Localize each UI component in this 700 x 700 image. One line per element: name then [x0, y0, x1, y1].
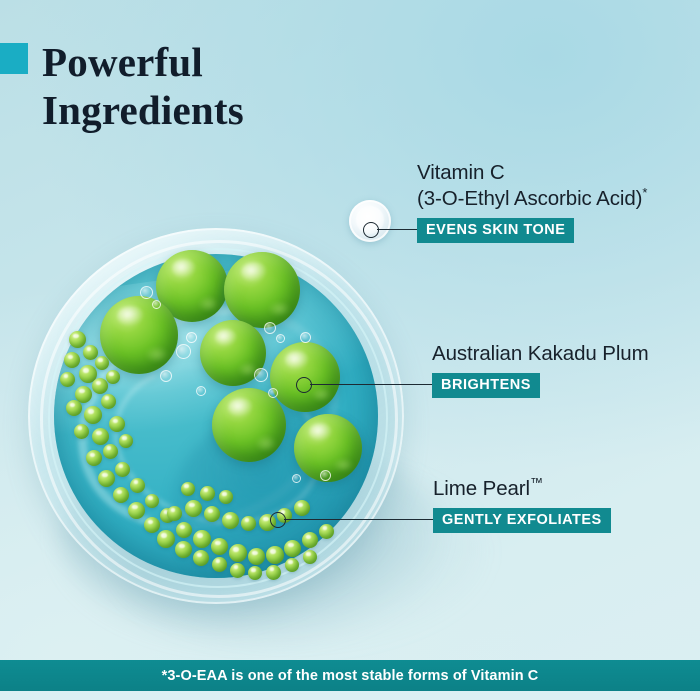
caviar-bead	[106, 370, 120, 384]
caviar-bead	[176, 522, 192, 538]
caviar-bead	[113, 487, 129, 503]
caviar-bead	[230, 563, 245, 578]
water-bubble	[292, 474, 301, 483]
caviar-bead	[319, 524, 334, 539]
caviar-bead	[84, 406, 102, 424]
caviar-bead	[130, 478, 145, 493]
water-bubble	[320, 470, 331, 481]
leader-dot-vitamin-c	[363, 222, 379, 238]
water-bubble	[268, 388, 278, 398]
caviar-bead	[101, 394, 116, 409]
badge-brightens: BRIGHTENS	[432, 373, 540, 398]
leader-line-kakadu-plum	[310, 384, 432, 385]
callout-name-line-1: Vitamin C	[417, 160, 647, 186]
callout-label-lime-pearl: Lime Pearl™	[433, 476, 543, 502]
caviar-bead	[185, 500, 202, 517]
callout-name-line-2: (3-O-Ethyl Ascorbic Acid)*	[417, 186, 647, 212]
footnote-marker: *	[642, 185, 647, 200]
petri-dish-water	[54, 254, 378, 578]
water-bubble	[254, 368, 268, 382]
caviar-bead	[211, 538, 228, 555]
caviar-bead	[92, 378, 108, 394]
caviar-bead	[98, 470, 115, 487]
caviar-bead	[92, 428, 109, 445]
leader-dot-lime-pearl	[270, 512, 286, 528]
badge-evens-skin-tone: EVENS SKIN TONE	[417, 218, 574, 243]
caviar-bead	[294, 500, 310, 516]
water-bubble	[196, 386, 206, 396]
petri-dish-rim-inner	[48, 248, 388, 588]
green-sphere	[200, 320, 266, 386]
water-bubble	[186, 332, 197, 343]
water-bubble	[160, 370, 172, 382]
caviar-bead	[128, 502, 145, 519]
caviar-bead	[219, 490, 233, 504]
caviar-bead	[204, 506, 220, 522]
callout-name-line-1: Lime Pearl™	[433, 476, 543, 502]
water-swirl	[54, 264, 377, 574]
caviar-bead	[200, 486, 215, 501]
caviar-bead	[248, 566, 262, 580]
caviar-bead	[285, 558, 299, 572]
caviar-bead	[109, 416, 125, 432]
caviar-bead	[181, 482, 195, 496]
footer-text: *3-O-EAA is one of the most stable forms…	[162, 668, 539, 684]
green-sphere	[212, 388, 286, 462]
caviar-bead	[144, 517, 160, 533]
caviar-bead	[266, 565, 281, 580]
caviar-bead	[229, 544, 247, 562]
caviar-bead	[266, 546, 284, 564]
green-sphere	[294, 414, 362, 482]
callout-label-vitamin-c: Vitamin C (3-O-Ethyl Ascorbic Acid)*	[417, 160, 647, 212]
caviar-bead	[145, 494, 159, 508]
caviar-bead	[74, 424, 89, 439]
water-bubble	[176, 344, 191, 359]
caviar-bead	[79, 365, 97, 383]
caviar-bead	[222, 512, 239, 529]
caviar-bead	[60, 372, 75, 387]
caviar-bead	[64, 352, 80, 368]
caviar-bead	[83, 345, 98, 360]
caviar-bead	[66, 400, 82, 416]
page-title-line-2: Ingredients	[42, 86, 372, 134]
caviar-bead	[212, 557, 227, 572]
caviar-bead	[193, 550, 209, 566]
caviar-bead	[303, 550, 317, 564]
caviar-bead	[157, 530, 175, 548]
callout-name-line-1: Australian Kakadu Plum	[432, 341, 649, 367]
water-bubble	[276, 334, 285, 343]
green-sphere	[100, 296, 178, 374]
page-title-line-1: Powerful	[42, 38, 372, 86]
caviar-bead	[167, 506, 182, 521]
water-shadow	[171, 410, 378, 578]
green-sphere	[224, 252, 300, 328]
footer-underline-strip	[0, 691, 700, 700]
badge-gently-exfoliates: GENTLY EXFOLIATES	[433, 508, 611, 533]
caviar-bead	[284, 540, 301, 557]
dish-shadow-secondary	[120, 470, 480, 640]
caviar-bead	[95, 356, 109, 370]
water-bubble	[152, 300, 161, 309]
page-title: Powerful Ingredients	[42, 38, 372, 135]
petri-dish-glass	[28, 228, 404, 604]
water-sheen	[54, 254, 378, 449]
water-bubble	[140, 286, 153, 299]
caviar-bead	[248, 548, 265, 565]
caviar-bead	[241, 516, 256, 531]
title-accent-square	[0, 43, 28, 74]
leader-dot-kakadu-plum	[296, 377, 312, 393]
caviar-bead	[119, 434, 133, 448]
caviar-bead	[302, 532, 318, 548]
caviar-bead	[175, 541, 192, 558]
dish-shadow	[60, 430, 440, 645]
caviar-bead	[193, 530, 211, 548]
caviar-bead	[160, 508, 175, 523]
caviar-bead	[86, 450, 102, 466]
water-swirl-secondary	[96, 341, 339, 546]
trademark-marker: ™	[530, 475, 543, 490]
caviar-bead	[69, 331, 86, 348]
ingredients-infographic: Powerful Ingredients Vitamin C (3-O-Ethy…	[0, 0, 700, 700]
water-bubble	[264, 322, 276, 334]
caviar-bead	[115, 462, 130, 477]
water-bubble	[300, 332, 311, 343]
leader-line-vitamin-c	[377, 229, 417, 230]
green-sphere	[156, 250, 228, 322]
petri-dish-rim-outer	[40, 240, 398, 598]
caviar-bead	[75, 386, 92, 403]
footer-bar: *3-O-EAA is one of the most stable forms…	[0, 660, 700, 691]
callout-label-kakadu-plum: Australian Kakadu Plum	[432, 341, 649, 367]
leader-line-lime-pearl	[284, 519, 435, 520]
caviar-bead	[103, 444, 118, 459]
